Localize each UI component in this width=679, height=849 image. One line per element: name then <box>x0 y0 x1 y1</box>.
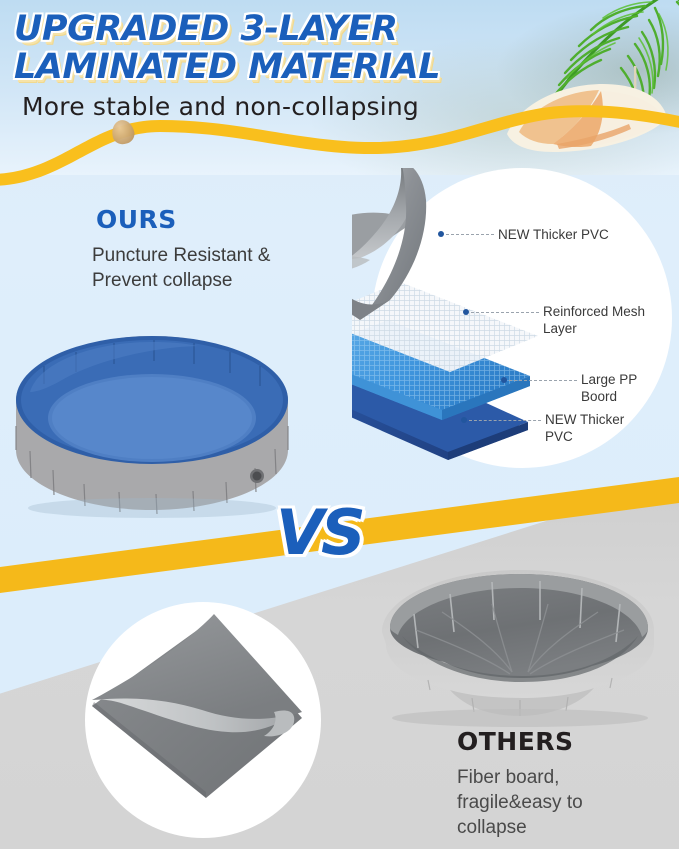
callout-label-top-pvc: NEW Thicker PVC <box>498 226 609 243</box>
callout-label-pp-board: Large PP Boord <box>581 371 637 405</box>
title-line-1: UPGRADED 3-LAYER <box>14 10 484 48</box>
callout-dot-top-pvc <box>438 231 444 237</box>
title-line-2: LAMINATED MATERIAL <box>14 48 484 86</box>
others-pool-illustration <box>372 540 664 736</box>
page-subtitle: More stable and non-collapsing <box>22 92 419 121</box>
callout-label-mesh: Reinforced Mesh Layer <box>543 303 645 337</box>
callout-line-pp-board <box>509 380 577 381</box>
callout-label-bottom-pvc: NEW Thicker PVC <box>545 411 624 445</box>
product-infographic: UPGRADED 3-LAYER LAMINATED MATERIAL More… <box>0 0 679 849</box>
callout-dot-pp-board <box>501 377 507 383</box>
vs-badge: VS <box>276 502 363 564</box>
callout-line-top-pvc <box>446 234 494 235</box>
ours-description: Puncture Resistant & Prevent collapse <box>92 243 302 293</box>
callout-dot-mesh <box>463 309 469 315</box>
ours-heading: OURS <box>96 205 177 234</box>
page-title: UPGRADED 3-LAYER LAMINATED MATERIAL <box>14 10 484 86</box>
callout-line-mesh <box>471 312 539 313</box>
callout-line-bottom-pvc <box>469 420 541 421</box>
others-heading: OTHERS <box>457 727 574 756</box>
callout-dot-bottom-pvc <box>461 417 467 423</box>
others-description: Fiber board, fragile&easy to collapse <box>457 765 657 840</box>
others-material-illustration <box>78 600 328 840</box>
